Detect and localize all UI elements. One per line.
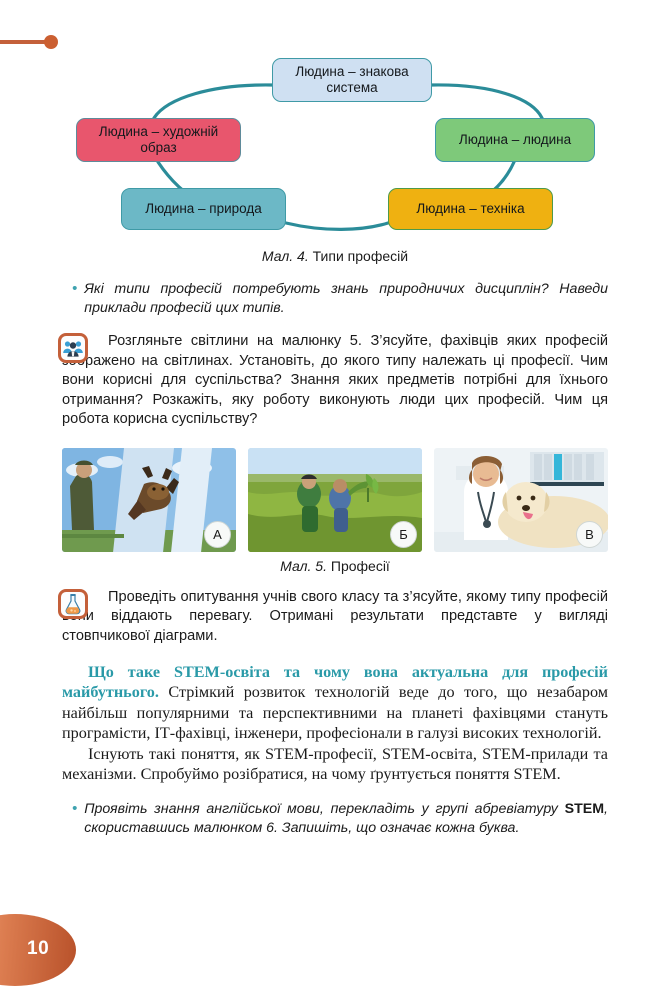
photo-agronomists-in-field[interactable]: Б bbox=[248, 448, 422, 552]
bullet-question-two-text: Проявіть знання англійської мови, перекл… bbox=[84, 800, 608, 838]
photo-soldier-with-dog[interactable]: А bbox=[62, 448, 236, 552]
figure-5-title: Професії bbox=[331, 558, 390, 574]
bullet-two-emphasis: STEM bbox=[565, 801, 604, 817]
stem-paragraph-two: Існують такі поняття, як STEM-професії, … bbox=[62, 744, 608, 785]
diagram-node-human[interactable]: Людина – людина bbox=[435, 118, 595, 162]
task-photos-analysis-text: Розгляньте світлини на малюнку 5. З’ясуй… bbox=[62, 332, 608, 430]
task-class-survey: Проведіть опитування учнів свого класу т… bbox=[62, 588, 608, 647]
diagram-node-technics[interactable]: Людина – техніка bbox=[388, 188, 553, 230]
photo-tag-a: А bbox=[204, 521, 231, 548]
bullet-marker-icon-two: • bbox=[72, 800, 77, 838]
diagram-node-nature[interactable]: Людина – природа bbox=[121, 188, 286, 230]
figure-4-label: Мал. 4. bbox=[262, 248, 309, 264]
task-photos-analysis: Розгляньте світлини на малюнку 5. З’ясуй… bbox=[62, 332, 608, 430]
diagram-node-art-image[interactable]: Людина – художній образ bbox=[76, 118, 241, 162]
photo-tag-v: В bbox=[576, 521, 603, 548]
figure-5-label: Мал. 5. bbox=[280, 558, 327, 574]
page-number: 10 bbox=[27, 938, 49, 960]
stem-paragraph-one: Що таке STEM-освіта та чому вона актуаль… bbox=[62, 662, 608, 744]
flask-icon bbox=[58, 589, 88, 619]
page-content: Людина – знакова система Людина – художн… bbox=[62, 0, 608, 838]
top-decorative-rule bbox=[0, 40, 46, 44]
figure-5-caption: Мал. 5. Професії bbox=[62, 558, 608, 574]
bullet-marker-icon: • bbox=[72, 280, 77, 318]
profession-types-diagram: Людина – знакова система Людина – художн… bbox=[62, 52, 608, 242]
bullet-question-two: • Проявіть знання англійської мови, пере… bbox=[72, 800, 608, 838]
bullet-question-one-text: Які типи професій потребують знань приро… bbox=[84, 280, 608, 318]
bullet-question-one: • Які типи професій потребують знань при… bbox=[72, 280, 608, 318]
diagram-node-sign-system[interactable]: Людина – знакова система bbox=[272, 58, 432, 102]
figure-4-caption: Мал. 4. Типи професій bbox=[62, 248, 608, 264]
figure-5-photos: А Б bbox=[62, 448, 608, 552]
photo-tag-b: Б bbox=[390, 521, 417, 548]
bullet-two-text-before: Проявіть знання англійської мови, перекл… bbox=[84, 801, 564, 817]
top-decorative-dot bbox=[44, 35, 58, 49]
photo-vet-with-dog[interactable]: В bbox=[434, 448, 608, 552]
group-people-icon bbox=[58, 333, 88, 363]
task-class-survey-text: Проведіть опитування учнів свого класу т… bbox=[62, 588, 608, 647]
stem-section: Що таке STEM-освіта та чому вона актуаль… bbox=[62, 662, 608, 784]
figure-4-title: Типи професій bbox=[313, 248, 408, 264]
